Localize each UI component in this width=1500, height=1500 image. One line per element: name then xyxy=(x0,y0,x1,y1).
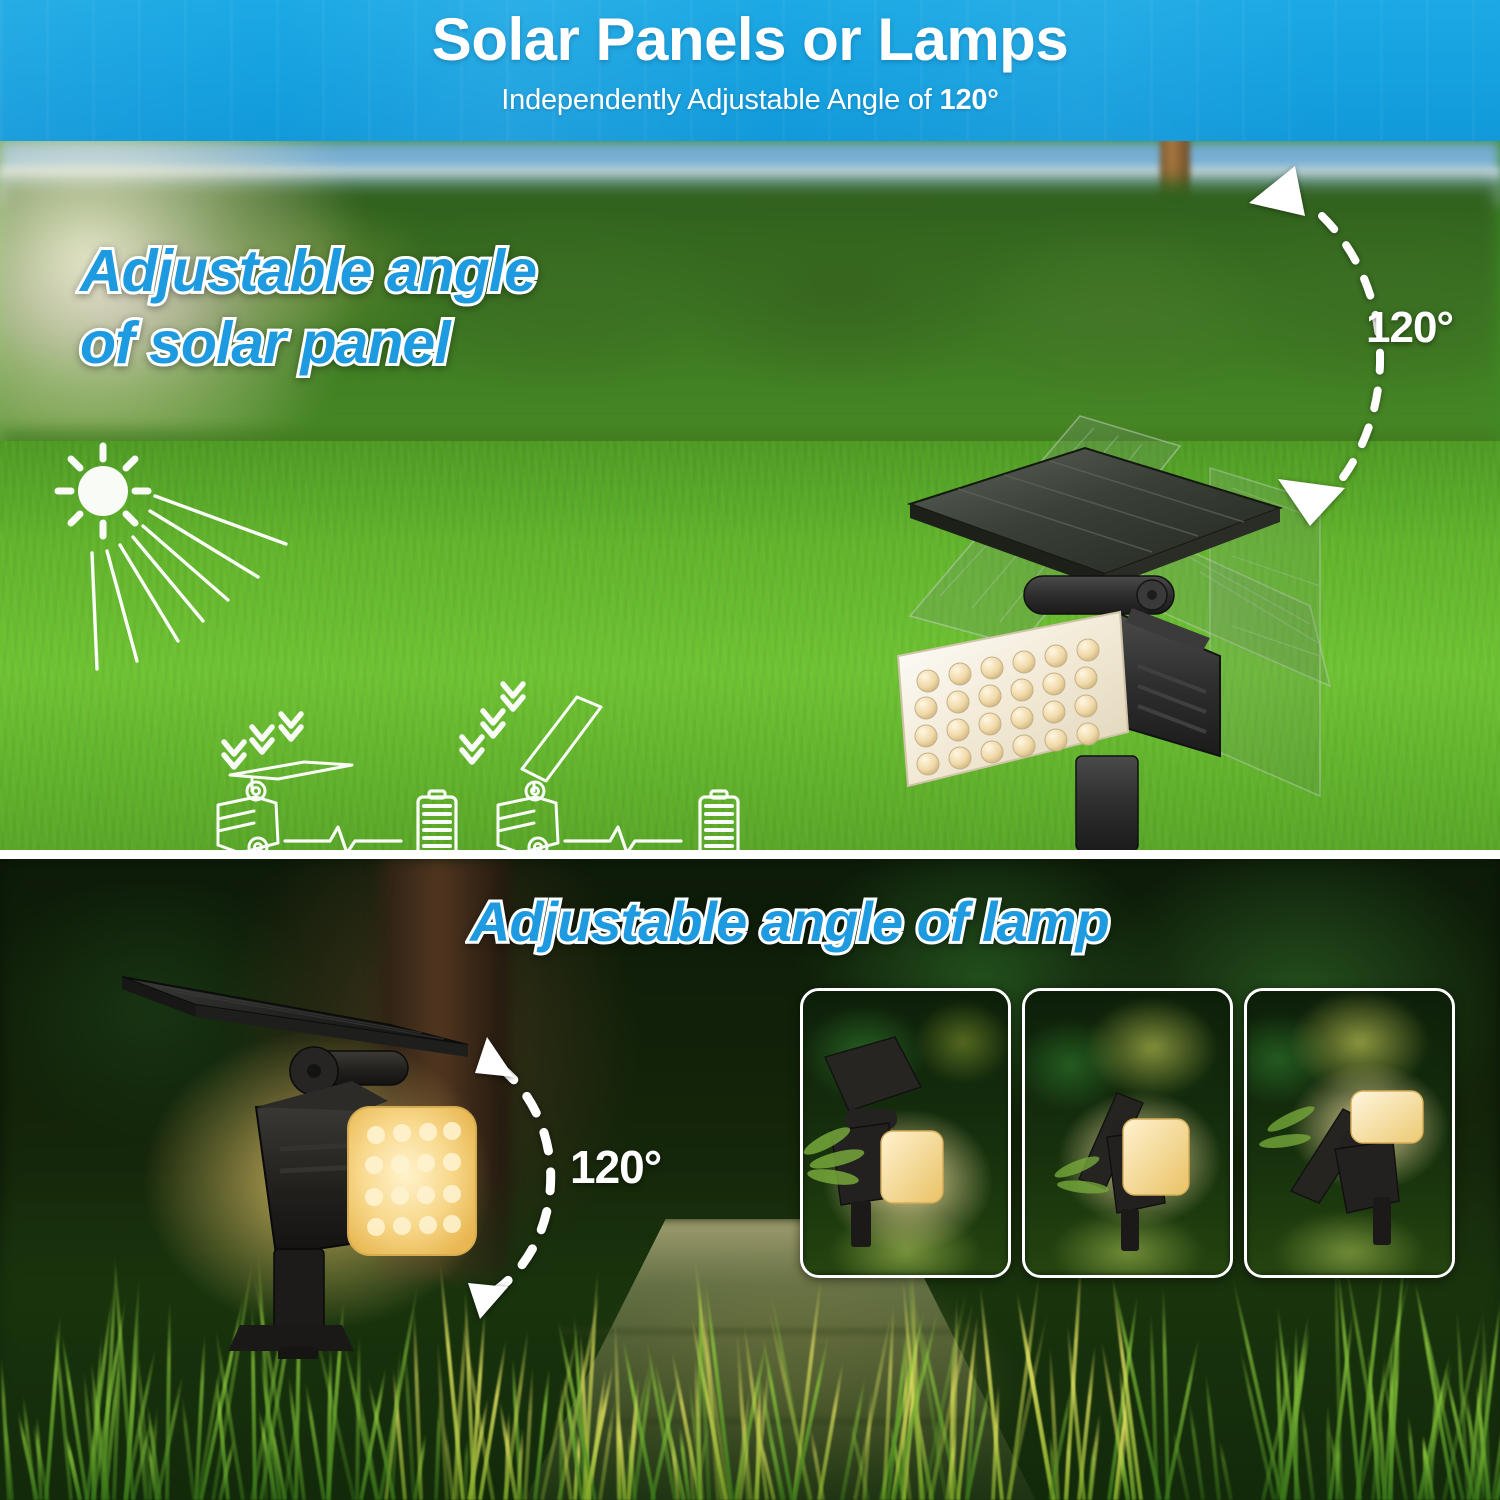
top-headline-line1: Adjustable angle xyxy=(80,236,536,308)
ground-stake xyxy=(1012,756,1198,850)
led-lens-glowing xyxy=(1123,1119,1189,1195)
solar-spotlight-product xyxy=(880,356,1350,850)
ground-stake xyxy=(1373,1197,1391,1245)
thumbnail-lamp-image xyxy=(803,991,1008,1275)
thumbnail-lamp-image xyxy=(1247,991,1452,1275)
arrow-up-icon xyxy=(475,1037,514,1077)
section-divider xyxy=(0,850,1500,859)
header-subtitle-prefix: Independently Adjustable Angle of xyxy=(501,84,939,116)
top-angle-label: 120° xyxy=(1366,303,1453,353)
header-banner: Solar Panels or Lamps Independently Adju… xyxy=(0,0,1500,141)
top-scene: Adjustable angle of solar panel 120° xyxy=(0,141,1500,850)
bottom-headline: Adjustable angle of lamp xyxy=(470,889,1109,954)
solar-panel xyxy=(825,1037,921,1111)
ground-stake xyxy=(851,1201,871,1247)
header-subtitle: Independently Adjustable Angle of 120° xyxy=(0,84,1500,117)
thumbnail-lamp-angle-down[interactable] xyxy=(800,988,1011,1278)
top-headline-line2: of solar panel xyxy=(80,308,536,380)
product-infographic: Solar Panels or Lamps Independently Adju… xyxy=(0,0,1500,1500)
led-lens-glowing xyxy=(881,1131,943,1203)
ground-stake xyxy=(1121,1209,1139,1251)
header-subtitle-value: 120° xyxy=(940,84,999,116)
thumbnail-gallery xyxy=(800,988,1455,1278)
bottom-scene: Adjustable angle of lamp 120° xyxy=(0,859,1500,1500)
bottom-angle-label: 120° xyxy=(570,1140,661,1194)
page-title: Solar Panels or Lamps xyxy=(0,8,1500,73)
led-lens-glowing xyxy=(1351,1091,1423,1143)
thumbnail-lamp-angle-up[interactable] xyxy=(1244,988,1455,1278)
thumbnail-lamp-angle-mid[interactable] xyxy=(1022,988,1233,1278)
hinge xyxy=(1024,576,1174,614)
arrow-down-icon xyxy=(468,1283,508,1319)
thumbnail-lamp-image xyxy=(1025,991,1230,1275)
top-headline: Adjustable angle of solar panel xyxy=(80,236,536,380)
